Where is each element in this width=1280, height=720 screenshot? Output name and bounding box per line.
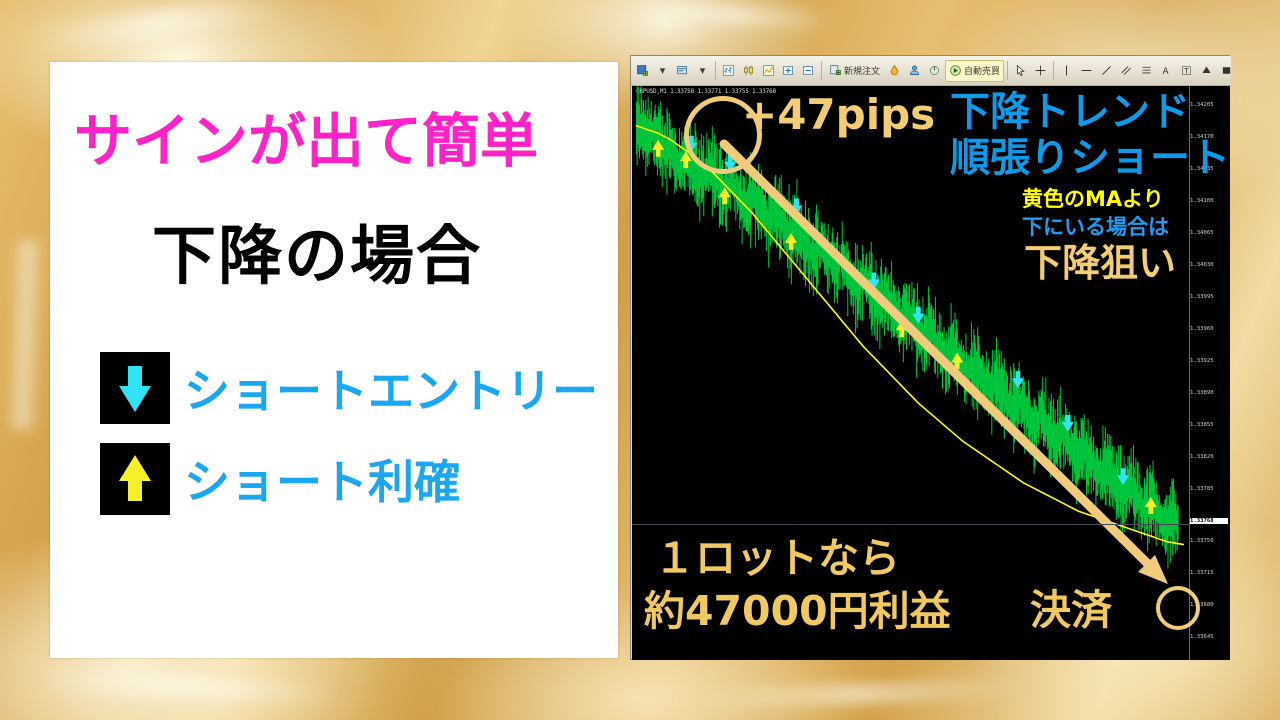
- price-tick: 1.34205: [1190, 102, 1230, 108]
- auto-trading-button[interactable]: 自動売買: [945, 60, 1004, 82]
- mt4-toolbar: ▾ ▾ 新規注文: [631, 56, 1231, 86]
- page-title: サインが出て簡単: [74, 94, 618, 178]
- legend-label-short-exit: ショート利確: [184, 446, 460, 512]
- price-tick: 1.33715: [1190, 570, 1230, 576]
- toolbar-separator: [1053, 61, 1054, 80]
- annotation-follow-trend-short: 順張りショート: [950, 138, 1230, 178]
- price-tick: 1.33855: [1190, 422, 1230, 428]
- annotation-ma-note-3: 下降狙い: [1024, 244, 1176, 282]
- new-chart-dropdown-icon[interactable]: ▾: [653, 60, 672, 82]
- slide-root: サインが出て簡単 下降の場合 ショートエントリー ショート利確 ▾: [0, 0, 1280, 720]
- zoom-in-icon[interactable]: [779, 60, 798, 82]
- crosshair-icon[interactable]: [1031, 60, 1050, 82]
- arrow-up-icon[interactable]: [1197, 60, 1216, 82]
- price-tick: 1.33750: [1190, 538, 1230, 544]
- annotation-pips: +47pips: [742, 94, 935, 136]
- trendline-icon[interactable]: [1097, 60, 1116, 82]
- price-tick: 1.33890: [1190, 390, 1230, 396]
- price-tick: 1.33820: [1190, 454, 1230, 460]
- zoom-out-icon[interactable]: [799, 60, 818, 82]
- toolbar-separator: [821, 61, 822, 80]
- price-tick: 1.33960: [1190, 326, 1230, 332]
- fibo-retracement-icon[interactable]: [1137, 60, 1156, 82]
- rectangle-icon[interactable]: [1217, 60, 1231, 82]
- chart-current-price-line: [632, 524, 1190, 525]
- price-tick: 1.34065: [1190, 230, 1230, 236]
- bar-chart-icon[interactable]: [719, 60, 738, 82]
- exit-circle-marker: [1156, 586, 1200, 630]
- price-tick: 1.33925: [1190, 358, 1230, 364]
- line-chart-icon[interactable]: [759, 60, 778, 82]
- new-order-label: 新規注文: [844, 64, 880, 77]
- profile-icon[interactable]: [673, 60, 692, 82]
- price-chart[interactable]: GBPUSD,M1 1.33758 1.33771 1.33755 1.3376…: [632, 86, 1230, 660]
- new-order-button[interactable]: 新規注文: [825, 60, 884, 82]
- toolbar-separator: [1007, 61, 1008, 80]
- horizontal-line-icon[interactable]: [1077, 60, 1096, 82]
- candlestick-chart-icon[interactable]: [739, 60, 758, 82]
- annotation-ma-note-2: 下にいる場合は: [1022, 217, 1169, 238]
- annotation-lot-1: １ロットなら: [654, 538, 900, 579]
- annotation-downtrend: 下降トレンド: [950, 92, 1190, 132]
- legend-label-short-entry: ショートエントリー: [184, 355, 598, 421]
- text-label-icon[interactable]: [1177, 60, 1196, 82]
- legend-item-short-entry: ショートエントリー: [100, 352, 598, 424]
- mt4-window: ▾ ▾ 新規注文: [630, 55, 1230, 660]
- price-tick: 1.33645: [1190, 634, 1230, 640]
- profile-dropdown-icon[interactable]: ▾: [693, 60, 712, 82]
- price-tick: 1.34030: [1190, 262, 1230, 268]
- current-price-tag: 1.33768: [1190, 518, 1228, 524]
- entry-circle-marker: [684, 96, 762, 174]
- cursor-icon[interactable]: [1011, 60, 1030, 82]
- equidistant-channel-icon[interactable]: [1117, 60, 1136, 82]
- auto-trading-label: 自動売買: [964, 64, 1000, 77]
- vertical-line-icon[interactable]: [1057, 60, 1076, 82]
- terminal-icon[interactable]: [925, 60, 944, 82]
- mailbox-icon[interactable]: [905, 60, 924, 82]
- up-arrow-icon: [100, 443, 170, 515]
- new-chart-icon[interactable]: [633, 60, 652, 82]
- price-tick: 1.33995: [1190, 294, 1230, 300]
- svg-text:A: A: [1162, 67, 1169, 77]
- annotation-lot-2: 約47000円利益: [644, 591, 951, 632]
- down-arrow-icon: [100, 352, 170, 424]
- toolbar-separator: [715, 61, 716, 80]
- legend-item-short-exit: ショート利確: [100, 443, 460, 515]
- annotation-ma-note-1: 黄色のMAより: [1022, 189, 1164, 210]
- price-tick: 1.34100: [1190, 198, 1230, 204]
- annotation-exit-label: 決済: [1030, 590, 1112, 631]
- alerts-icon[interactable]: [885, 60, 904, 82]
- text-icon[interactable]: A: [1157, 60, 1176, 82]
- page-subtitle: 下降の場合: [152, 205, 622, 297]
- price-tick: 1.33785: [1190, 486, 1230, 492]
